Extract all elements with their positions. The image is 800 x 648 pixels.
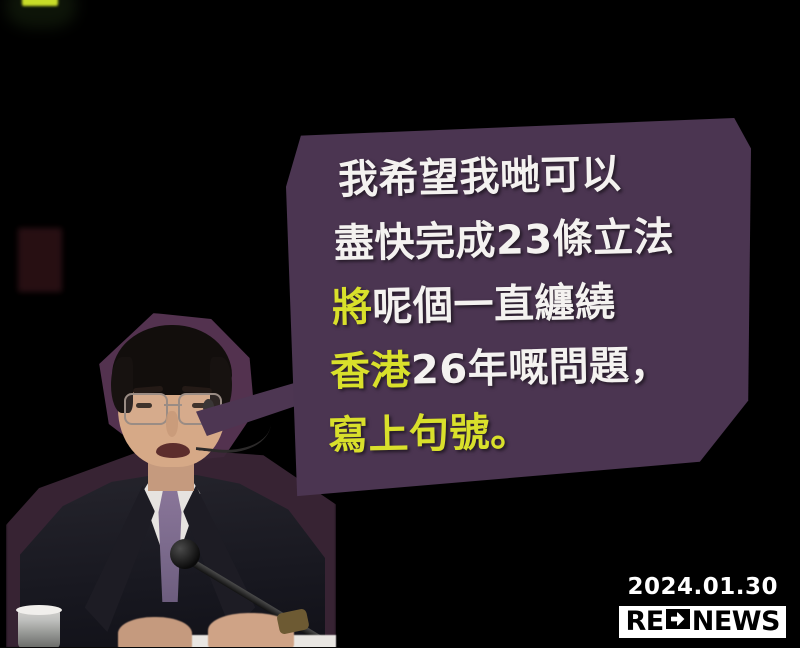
quote-line-2-seg-1: 盡快完成23條立法 xyxy=(334,214,675,267)
quote-line-3-seg-1: 將 xyxy=(332,284,373,331)
watermark-date: 2024.01.30 xyxy=(619,574,786,600)
microphone-head xyxy=(170,539,200,569)
quote-line-1-seg-1: 我希望我哋可以 xyxy=(338,151,622,203)
quote-line-3-seg-2: 呢個一直纏繞 xyxy=(372,279,616,330)
logo-suffix: NEWS xyxy=(692,608,780,635)
renews-logo: RE NEWS xyxy=(619,606,786,638)
water-glass-rim xyxy=(16,605,62,615)
quote-line-5: 寫上句號。 xyxy=(327,396,742,469)
quote-line-3: 將呢個一直纏繞 xyxy=(331,268,746,341)
background-green-bar xyxy=(22,0,58,6)
quote-line-4-seg-2: 26年嘅問題， xyxy=(411,342,671,393)
watermark: 2024.01.30 RE NEWS xyxy=(619,574,786,638)
quote-line-2: 盡快完成23條立法 xyxy=(333,204,748,277)
quote-line-4-seg-1: 香港 xyxy=(330,348,412,396)
speaker-nose xyxy=(166,411,178,437)
quote-line-4: 香港26年嘅問題， xyxy=(329,332,744,405)
speaker-hand-left xyxy=(118,617,192,648)
speech-bubble-text: 我希望我哋可以 盡快完成23條立法 將呢個一直纏繞 香港26年嘅問題， 寫上句號… xyxy=(306,128,756,488)
video-still-canvas: 我希望我哋可以 盡快完成23條立法 將呢個一直纏繞 香港26年嘅問題， 寫上句號… xyxy=(0,0,800,648)
logo-prefix: RE xyxy=(625,608,663,635)
background-maroon-panel xyxy=(18,228,62,292)
speaker-mouth xyxy=(156,443,190,458)
quote-line-5-seg-1: 寫上句號。 xyxy=(328,409,531,459)
quote-line-1: 我希望我哋可以 xyxy=(337,140,752,213)
glasses-lens-left xyxy=(124,393,168,425)
double-arrow-icon xyxy=(665,608,691,635)
speaker-figure xyxy=(0,295,340,648)
